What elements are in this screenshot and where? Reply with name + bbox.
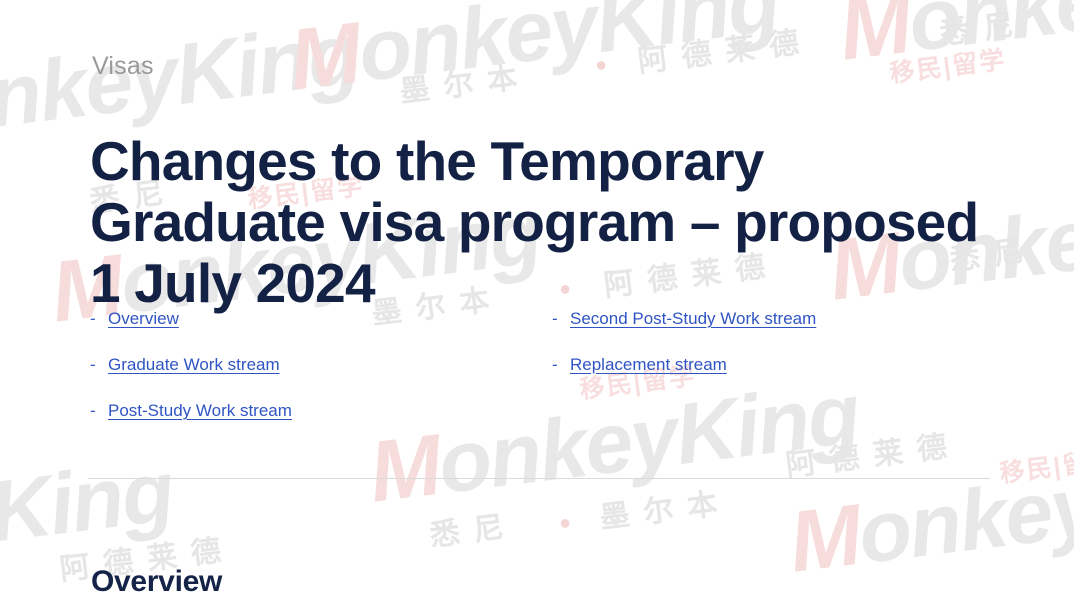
watermark-brand-initial: M (834, 0, 915, 79)
toc-item-overview[interactable]: - Overview (90, 308, 292, 330)
watermark-city-adelaide: 阿德莱德 (636, 27, 814, 78)
watermark-tagline: 移民|留学 (998, 448, 1074, 487)
watermark-city-sydney: 悉尼 (428, 511, 519, 552)
toc-link-graduate-work-stream[interactable]: Graduate Work stream (108, 354, 280, 376)
toc-item-post-study-work-stream[interactable]: - Post-Study Work stream (90, 400, 292, 422)
watermark-brand-second: King (170, 5, 363, 123)
toc-link-overview[interactable]: Overview (108, 308, 179, 330)
dash-icon: - (552, 354, 570, 376)
watermark-brand: Monkey (835, 0, 1074, 74)
toc-column-right: - Second Post-Study Work stream - Replac… (552, 308, 816, 400)
watermark-brand: Monkey (785, 463, 1074, 586)
section-divider (88, 478, 990, 479)
toc-link-replacement-stream[interactable]: Replacement stream (570, 354, 727, 376)
watermark-brand-rest: onkey (853, 458, 1074, 582)
watermark-brand-rest: onkey (433, 388, 681, 512)
watermark-dot: • (594, 49, 622, 82)
watermark-brand-rest: onkey (353, 0, 601, 100)
watermark-city-melbourne: 墨尔本 (398, 62, 533, 108)
toc-item-second-post-study-work-stream[interactable]: - Second Post-Study Work stream (552, 308, 816, 330)
toc-item-graduate-work-stream[interactable]: - Graduate Work stream (90, 354, 292, 376)
watermark-brand: King (0, 448, 177, 556)
document-page: MonkeyKing MonkeyKing Monkey 墨尔本 • 阿德莱德 … (0, 0, 1074, 605)
toc-item-replacement-stream[interactable]: - Replacement stream (552, 354, 816, 376)
watermark-brand-second: King (590, 0, 783, 71)
dash-icon: - (90, 308, 108, 330)
watermark-tagline: 移民|留学 (888, 48, 1007, 87)
page-title: Changes to the Temporary Graduate visa p… (90, 131, 1010, 314)
watermark-brand: MonkeyKing (285, 0, 783, 104)
watermark-dot: • (558, 507, 586, 540)
watermark-city-sydney: 悉尼 (938, 9, 1029, 50)
watermark-brand-second: King (0, 443, 178, 561)
page-eyebrow: Visas (92, 52, 154, 81)
watermark-brand-initial: M (364, 417, 445, 521)
dash-icon: - (552, 308, 570, 330)
toc-column-left: - Overview - Graduate Work stream - Post… (90, 308, 292, 446)
toc-link-post-study-work-stream[interactable]: Post-Study Work stream (108, 400, 292, 422)
toc-link-second-post-study-work-stream[interactable]: Second Post-Study Work stream (570, 308, 816, 330)
dash-icon: - (90, 400, 108, 422)
section-heading-overview: Overview (91, 565, 222, 599)
watermark-brand-rest: onkey (903, 0, 1074, 70)
dash-icon: - (90, 354, 108, 376)
watermark-city-adelaide: 阿德莱德 (784, 431, 962, 482)
watermark-brand-initial: M (784, 487, 865, 591)
watermark-brand-initial: M (284, 5, 365, 109)
watermark-city-melbourne: 墨尔本 (598, 488, 733, 534)
